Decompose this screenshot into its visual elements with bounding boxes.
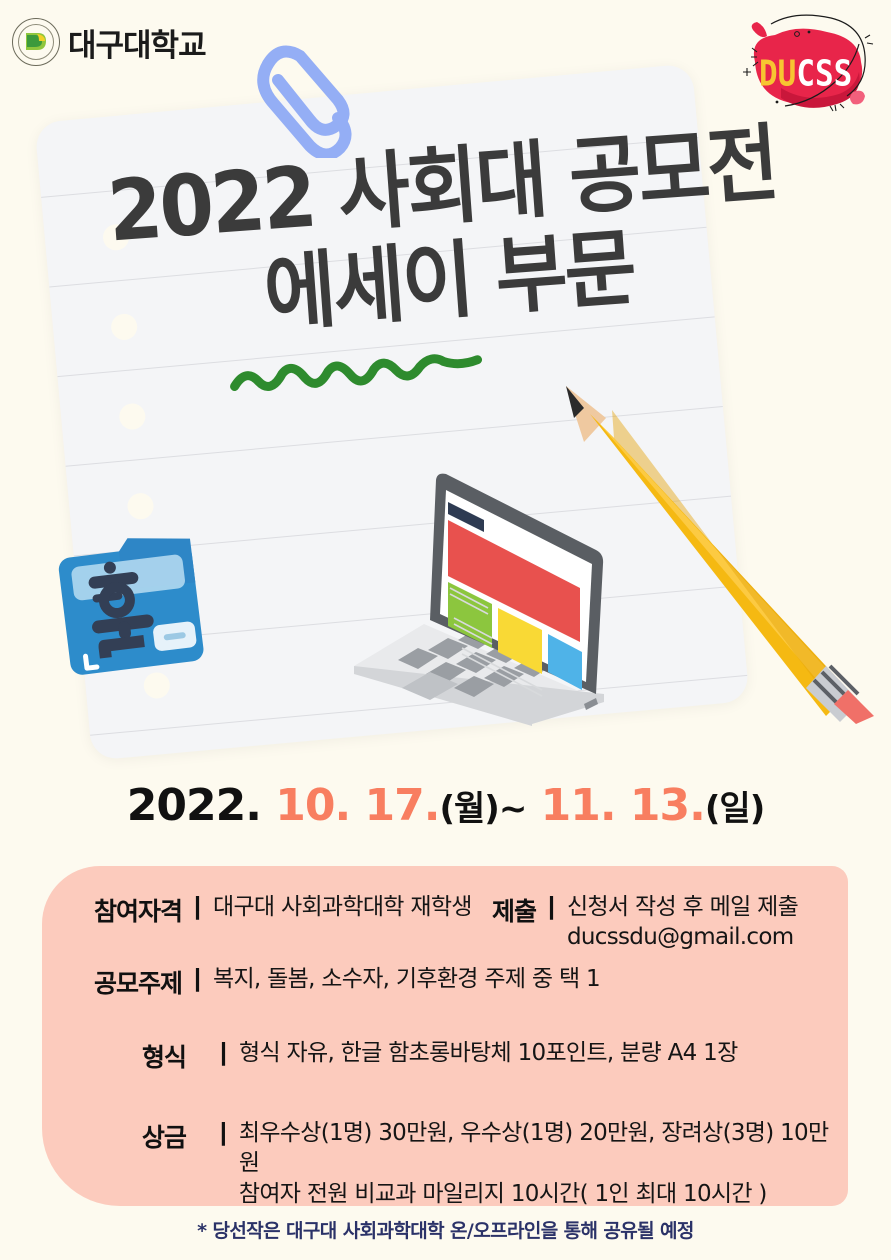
blue-document-badge-icon bbox=[49, 523, 218, 692]
pencil-icon bbox=[548, 376, 884, 724]
info-value-format: 형식 자유, 한글 함초롱바탕체 10포인트, 분량 A4 1장 bbox=[239, 1038, 738, 1068]
info-row-topic: 공모주제 | 복지, 돌봄, 소수자, 기후환경 주제 중 택 1 bbox=[94, 964, 600, 1000]
ducss-du-text: DU bbox=[759, 53, 796, 94]
seal-emblem-icon bbox=[24, 30, 48, 54]
info-row-submission: 제출 | 신청서 작성 후 메일 제출 ducssdu@gmail.com bbox=[492, 892, 798, 953]
info-box: 참여자격 | 대구대 사회과학대학 재학생 제출 | 신청서 작성 후 메일 제… bbox=[42, 866, 848, 1206]
ducss-wordmark: DUCSS bbox=[759, 53, 852, 94]
info-divider: | bbox=[220, 1038, 227, 1067]
date-end-day: (일) bbox=[705, 789, 764, 829]
info-divider: | bbox=[548, 892, 555, 921]
daegu-university-seal-icon bbox=[12, 18, 60, 66]
info-value-eligibility: 대구대 사회과학대학 재학생 bbox=[213, 892, 472, 922]
info-row-format: 형식 | 형식 자유, 한글 함초롱바탕체 10포인트, 분량 A4 1장 bbox=[120, 1038, 738, 1074]
info-row-eligibility: 참여자격 | 대구대 사회과학대학 재학생 bbox=[94, 892, 472, 928]
ducss-club-logo: DUCSS bbox=[735, 10, 875, 122]
date-year: 2022. bbox=[127, 780, 261, 831]
info-label-topic: 공모주제 bbox=[94, 964, 182, 1000]
info-value-topic: 복지, 돌봄, 소수자, 기후환경 주제 중 택 1 bbox=[213, 964, 600, 994]
info-row-prize: 상금 | 최우수상(1명) 30만원, 우수상(1명) 20만원, 장려상(3명… bbox=[120, 1118, 848, 1209]
info-label-format: 형식 bbox=[120, 1038, 208, 1074]
ducss-css-text: CSS bbox=[796, 53, 852, 94]
date-start-day: (월)~ bbox=[439, 789, 526, 829]
info-value-prize: 최우수상(1명) 30만원, 우수상(1명) 20만원, 장려상(3명) 10만… bbox=[239, 1118, 848, 1209]
info-label-eligibility: 참여자격 bbox=[94, 892, 182, 928]
footer-note: * 당선작은 대구대 사회과학대학 온/오프라인을 통해 공유될 예정 bbox=[0, 1216, 891, 1243]
info-label-prize: 상금 bbox=[120, 1118, 208, 1154]
info-value-submission: 신청서 작성 후 메일 제출 ducssdu@gmail.com bbox=[567, 892, 798, 953]
date-end: 11. 13. bbox=[541, 780, 705, 831]
university-name: 대구대학교 bbox=[68, 20, 206, 65]
date-start: 10. 17. bbox=[275, 780, 439, 831]
university-logo: 대구대학교 bbox=[12, 18, 206, 66]
poster-root: 대구대학교 DUCSS 2022 사회대 공모전 bbox=[0, 0, 891, 1260]
info-divider: | bbox=[220, 1118, 227, 1147]
info-divider: | bbox=[194, 892, 201, 921]
info-label-submission: 제출 bbox=[492, 892, 536, 928]
info-divider: | bbox=[194, 964, 201, 993]
event-date-line: 2022. 10. 17.(월)~ 11. 13.(일) bbox=[0, 780, 891, 831]
paperclip-icon bbox=[234, 22, 366, 158]
